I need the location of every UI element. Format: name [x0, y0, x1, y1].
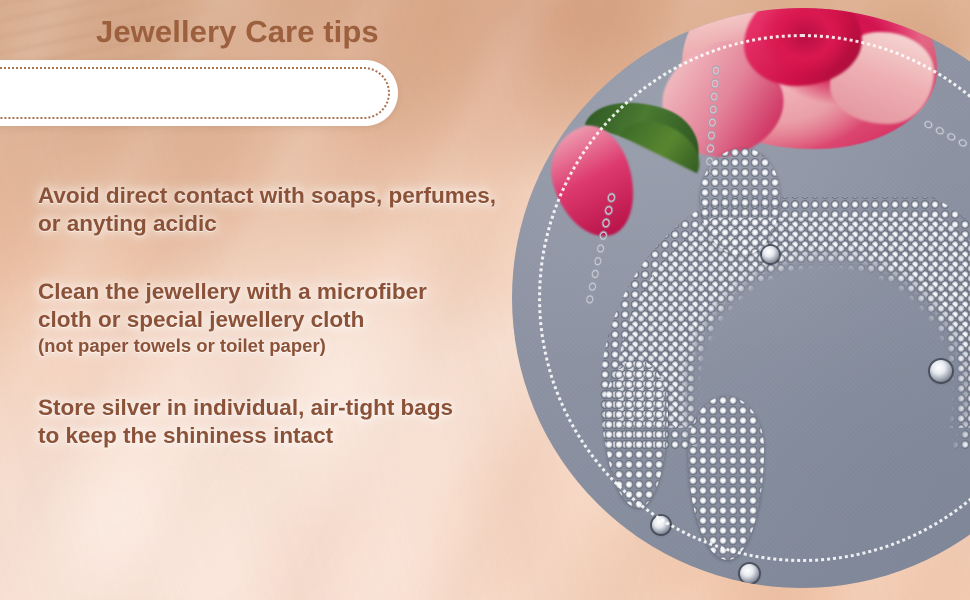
- care-tip-1-line-1: Avoid direct contact with soaps, perfume…: [38, 182, 558, 210]
- jewellery-photo-circle: [512, 8, 970, 588]
- care-tip-2-line-2: cloth or special jewellery cloth: [38, 306, 558, 334]
- care-tip-1-line-2: or anyting acidic: [38, 210, 558, 238]
- care-tip-2-line-1: Clean the jewellery with a microfiber: [38, 278, 558, 306]
- care-tip-2: Clean the jewellery with a microfiber cl…: [38, 278, 558, 358]
- care-tip-2-line-3: (not paper towels or toilet paper): [38, 334, 558, 358]
- care-tip-3: Store silver in individual, air-tight ba…: [38, 394, 558, 450]
- care-tips-list: Avoid direct contact with soaps, perfume…: [38, 182, 558, 476]
- title-dotted-border: [0, 67, 390, 119]
- care-tip-3-line-1: Store silver in individual, air-tight ba…: [38, 394, 558, 422]
- page-title: Jewellery Care tips: [96, 0, 379, 66]
- jewellery-care-tips-banner: Jewellery Care tips Avoid direct contact…: [0, 0, 970, 600]
- earring-right-drop-gem: [740, 564, 759, 583]
- care-tip-3-line-2: to keep the shininess intact: [38, 422, 558, 450]
- care-tip-1: Avoid direct contact with soaps, perfume…: [38, 182, 558, 238]
- title-pill: [0, 60, 398, 126]
